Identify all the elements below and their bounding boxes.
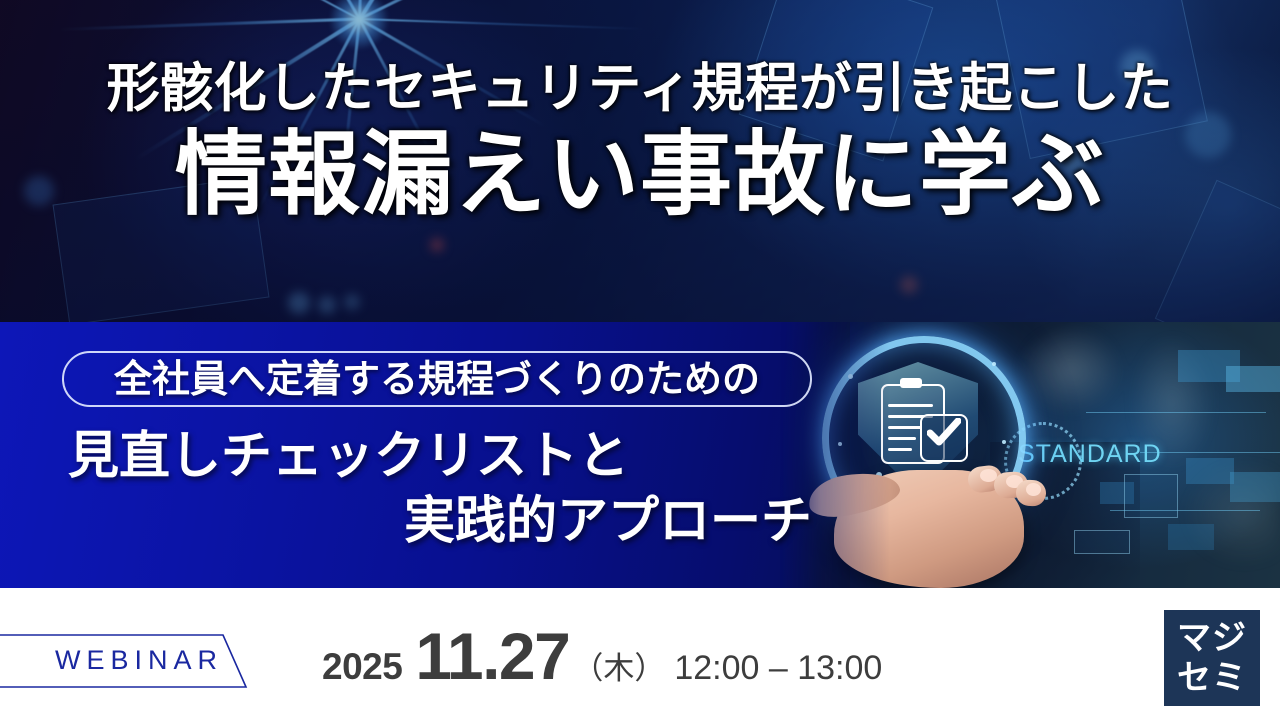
hero-section: 形骸化したセキュリティ規程が引き起こした 情報漏えい事故に学ぶ xyxy=(0,0,1280,322)
subtitle-line-2: 実践的アプローチ xyxy=(404,492,812,552)
hero-title-line-2: 情報漏えい事故に学ぶ xyxy=(0,122,1280,228)
hand-icon xyxy=(808,428,1058,588)
majiseminar-logo: マジ セミ xyxy=(1164,610,1260,706)
webinar-badge-label: WEBINAR xyxy=(55,645,223,676)
logo-line-2: セミ xyxy=(1177,658,1247,698)
event-date: 2025 11.27 （木） 12:00 – 13:00 xyxy=(322,618,882,694)
hero-photo-composite: STANDARD xyxy=(780,322,1280,588)
date-year: 2025 xyxy=(322,646,402,688)
date-time-range: 12:00 – 13:00 xyxy=(674,649,882,688)
date-month-day: 11.27 xyxy=(415,618,569,694)
logo-line-1: マジ xyxy=(1177,618,1247,658)
subtitle-line-1: 見直しチェックリストと xyxy=(68,427,629,487)
hero-title-line-1: 形骸化したセキュリティ規程が引き起こした xyxy=(0,58,1280,120)
hero-title-block: 形骸化したセキュリティ規程が引き起こした 情報漏えい事故に学ぶ xyxy=(0,58,1280,228)
webinar-banner: 形骸化したセキュリティ規程が引き起こした 情報漏えい事故に学ぶ xyxy=(0,0,1280,720)
date-day-of-week: （木） xyxy=(572,643,665,688)
subtitle-pill-text: 全社員へ定着する規程づくりのための xyxy=(82,352,792,406)
